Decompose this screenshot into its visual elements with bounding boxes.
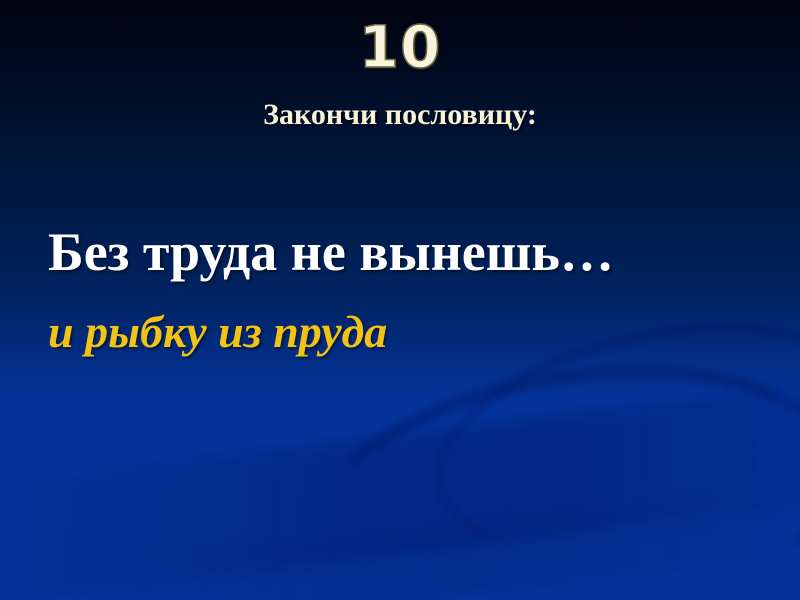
prompt-label: Закончи пословицу: [0, 98, 800, 131]
score-number: 10 [0, 18, 800, 76]
proverb-answer-text: и рыбку из пруда [48, 306, 758, 358]
background-ripple-band-secondary [118, 480, 800, 600]
slide-canvas: 10 Закончи пословицу: Без труда не вынеш… [0, 0, 800, 600]
proverb-question-text: Без труда не вынешь… [48, 222, 758, 282]
background-swirl-outer [282, 329, 800, 600]
background-ripple-band [0, 370, 800, 600]
